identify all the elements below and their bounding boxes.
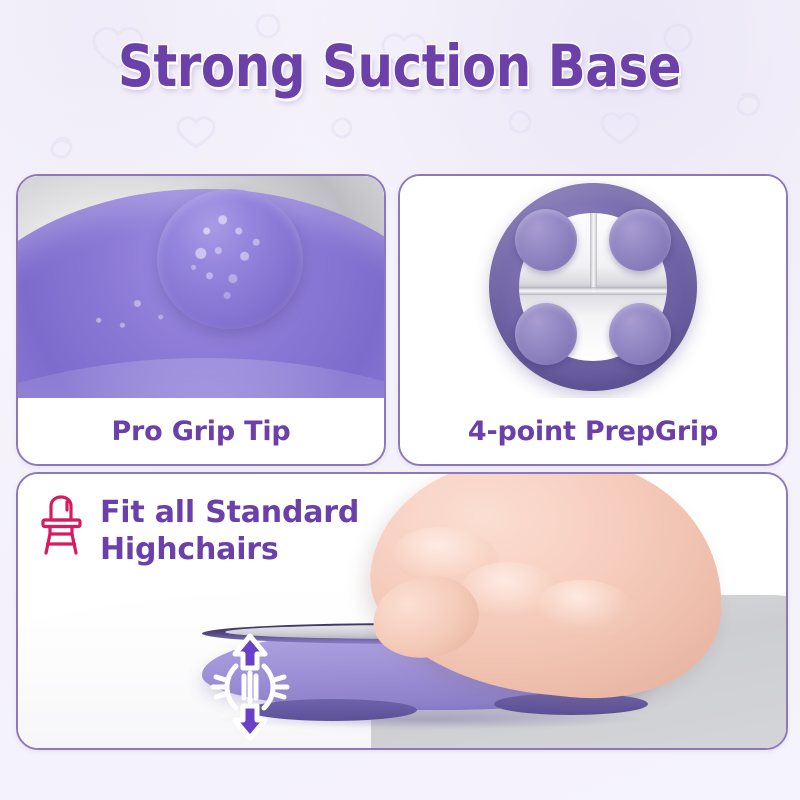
fit-title-line-1: Fit all Standard: [100, 495, 359, 530]
bowl-lip-shading: [18, 358, 384, 398]
suction-force-arrows-icon: [206, 630, 294, 744]
pro-grip-tip-scene: [18, 176, 384, 398]
page-title-text: Strong Suction Base: [118, 36, 681, 97]
pro-grip-tip-photo: [18, 176, 384, 398]
water-droplets: [157, 189, 303, 329]
panel-four-point-prepgrip: 4-point PrepGrip: [398, 174, 788, 466]
suction-pad-bottom-right: [609, 303, 671, 365]
prepgrip-caption: 4-point PrepGrip: [400, 398, 786, 464]
page-title: Strong Suction Base: [0, 36, 800, 97]
suction-base-ring: [489, 183, 697, 391]
suction-pad-top-right: [609, 209, 671, 271]
grip-tab: [157, 189, 303, 329]
prepgrip-scene: [400, 176, 786, 398]
suction-pad-bottom-left: [515, 303, 577, 365]
pro-grip-tip-caption: Pro Grip Tip: [18, 398, 384, 464]
fit-panel-inner: Fit all Standard Highchairs: [18, 474, 786, 748]
fit-title-line-2: Highchairs: [100, 531, 359, 568]
suction-pad-top-left: [515, 209, 577, 271]
fit-title: Fit all Standard Highchairs: [100, 494, 359, 568]
fit-header: Fit all Standard Highchairs: [40, 494, 359, 568]
panel-pro-grip-tip: Pro Grip Tip: [16, 174, 386, 466]
highchair-icon: [40, 494, 86, 556]
infographic-page: Strong Suction Base Pro Grip Tip: [0, 0, 800, 800]
prepgrip-photo: [400, 176, 786, 398]
panel-fit-highchairs: Fit all Standard Highchairs: [16, 472, 788, 750]
